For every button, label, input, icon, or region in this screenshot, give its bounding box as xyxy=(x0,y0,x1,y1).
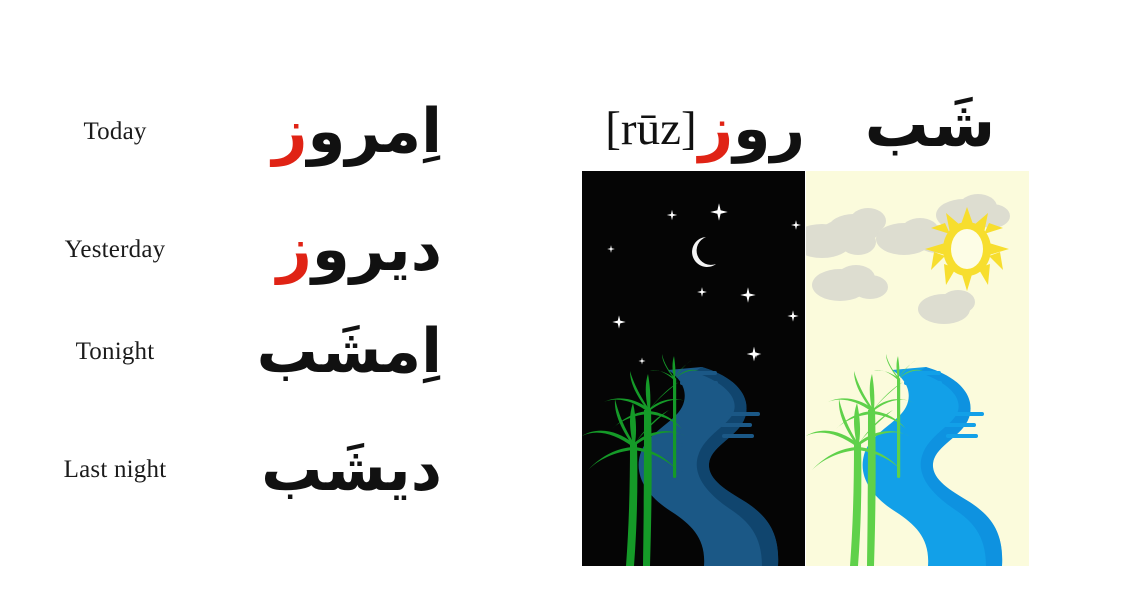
water-ripple xyxy=(904,381,942,385)
water-ripple xyxy=(649,468,683,472)
water-ripple xyxy=(911,371,941,375)
persian-word-base: دیرو xyxy=(312,214,442,285)
night-scene-graphic xyxy=(582,171,805,566)
persian-word-base: اِمرو xyxy=(307,96,442,167)
water-ripple xyxy=(946,434,978,438)
day-transliteration: [rūz] xyxy=(605,106,696,153)
night-persian-word: شَب xyxy=(830,82,1030,168)
day-night-illustration xyxy=(582,171,1029,566)
water-ripple xyxy=(944,423,976,427)
vocabulary-english-label: Tonight xyxy=(0,338,230,366)
vocabulary-row-last-night: Last night دیشَب xyxy=(0,420,520,520)
vocabulary-table: Today اِمروز Yesterday دیروز Tonight اِم… xyxy=(0,0,520,611)
vocabulary-english-label: Today xyxy=(0,118,230,146)
sun-core xyxy=(951,229,983,269)
water-ripple xyxy=(722,434,754,438)
water-ripple xyxy=(647,443,683,447)
water-ripple xyxy=(728,412,760,416)
vocabulary-persian-word: اِمروز xyxy=(230,100,520,164)
vocabulary-english-label: Yesterday xyxy=(0,236,230,264)
water-ripple xyxy=(873,468,907,472)
water-ripple xyxy=(687,371,717,375)
vocabulary-english-label: Last night xyxy=(0,456,230,484)
day-word-heading: [rūz] روز xyxy=(540,93,805,165)
persian-word-base: رو xyxy=(733,94,805,164)
vocabulary-persian-word: اِمشَب xyxy=(230,320,520,384)
persian-word-highlight: ز xyxy=(272,96,307,167)
vocabulary-persian-word: دیشَب xyxy=(230,438,520,502)
vocabulary-persian-word: دیروز xyxy=(230,218,520,282)
vocabulary-row-today: Today اِمروز xyxy=(0,82,520,182)
vocabulary-row-tonight: Tonight اِمشَب xyxy=(0,302,520,402)
persian-word-base: دیشَب xyxy=(261,434,442,505)
water-ripple xyxy=(952,412,984,416)
day-scene-graphic xyxy=(806,171,1029,566)
water-ripple xyxy=(680,381,718,385)
day-scene-panel xyxy=(806,171,1029,566)
persian-word-highlight: ز xyxy=(277,214,312,285)
water-ripple xyxy=(871,443,907,447)
water-ripple xyxy=(720,423,752,427)
persian-word-base: اِمشَب xyxy=(257,316,442,387)
vocabulary-row-yesterday: Yesterday دیروز xyxy=(0,200,520,300)
day-persian-word: روز xyxy=(699,96,805,162)
persian-word-highlight: ز xyxy=(699,94,734,164)
night-scene-panel xyxy=(582,171,805,566)
